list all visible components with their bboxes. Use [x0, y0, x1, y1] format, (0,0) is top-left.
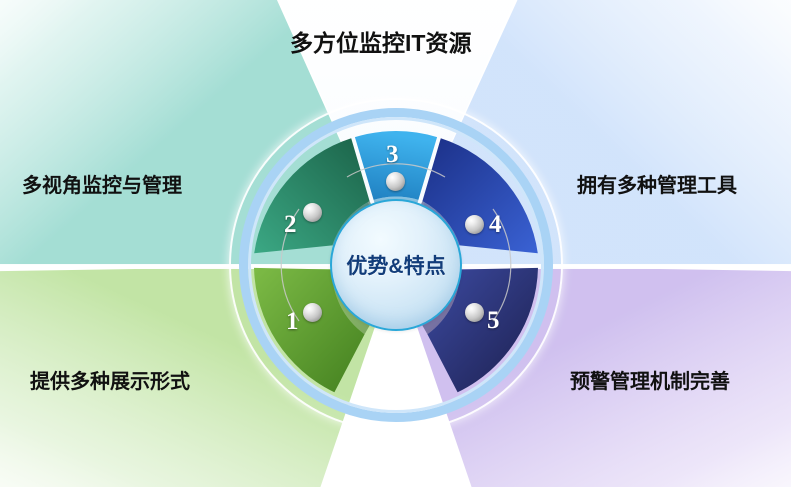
- marker-ball-2[interactable]: [303, 203, 322, 222]
- marker-ball-4[interactable]: [465, 215, 484, 234]
- label-upper-left: 多视角监控与管理: [22, 169, 182, 198]
- label-top-title: 多方位监控IT资源: [290, 24, 471, 58]
- label-lower-left: 提供多种展示形式: [30, 365, 190, 394]
- marker-ball-1[interactable]: [303, 303, 322, 322]
- center-label: 优势&特点: [346, 250, 445, 280]
- label-lower-right: 预警管理机制完善: [570, 365, 730, 394]
- diagram-canvas: 优势&特点 1 2 3 4 5 多方位监控IT资源 多视角监控与管理 提供多种展…: [0, 0, 791, 487]
- marker-ball-5[interactable]: [465, 303, 484, 322]
- center-disc[interactable]: 优势&特点: [330, 199, 462, 331]
- label-upper-right: 拥有多种管理工具: [577, 169, 737, 198]
- marker-ball-3[interactable]: [386, 172, 405, 191]
